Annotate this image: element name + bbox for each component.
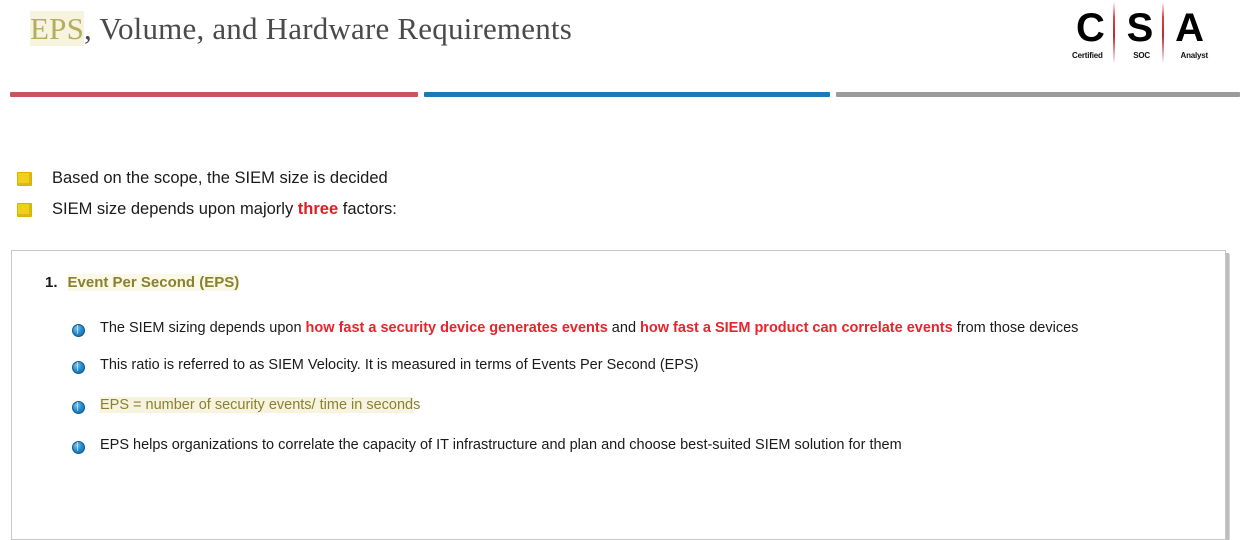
blue-globe-bullet-icon <box>72 324 85 337</box>
list-item: This ratio is referred to as SIEM Veloci… <box>72 356 1199 375</box>
top-bullet-text-after: factors: <box>338 200 397 218</box>
content-box: 1. Event Per Second (EPS) The SIEM sizin… <box>11 250 1226 540</box>
rule-bar-gray <box>836 92 1240 97</box>
sub-bullet-text: EPS = number of security events/ time in… <box>100 396 420 415</box>
item-number: 1. <box>45 274 58 291</box>
blue-globe-bullet-icon <box>72 361 85 374</box>
text-segment: This ratio is referred to as SIEM Veloci… <box>100 357 699 373</box>
top-bullet-list: Based on the scope, the SIEM size is dec… <box>0 168 700 230</box>
sub-bullet-text: This ratio is referred to as SIEM Veloci… <box>100 356 699 375</box>
numbered-item-eps: 1. Event Per Second (EPS) <box>45 274 239 291</box>
top-bullet-text-before: SIEM size depends upon majorly <box>52 200 298 218</box>
slide-header: EPS, Volume, and Hardware Requirements C… <box>0 0 1248 92</box>
list-item: SIEM size depends upon majorly three fac… <box>0 199 700 219</box>
page-title-accent: EPS <box>30 11 84 46</box>
sub-bullet-text: EPS helps organizations to correlate the… <box>100 436 902 455</box>
logo-letter-a: A <box>1175 8 1204 48</box>
text-segment: EPS helps organizations to correlate the… <box>100 437 902 453</box>
text-segment: from those devices <box>953 320 1079 336</box>
logo-divider-left-icon <box>1113 2 1115 64</box>
sub-bullet-text: The SIEM sizing depends upon how fast a … <box>100 319 1078 338</box>
page-title: EPS, Volume, and Hardware Requirements <box>30 11 572 47</box>
list-item: EPS helps organizations to correlate the… <box>72 436 1199 455</box>
yellow-square-bullet-icon <box>17 172 32 186</box>
sub-bullet-list: The SIEM sizing depends upon how fast a … <box>72 319 1199 473</box>
text-segment-highlight: how fast a SIEM product can correlate ev… <box>640 320 953 336</box>
list-item: EPS = number of security events/ time in… <box>72 396 1199 415</box>
logo-subtitle-analyst: Analyst <box>1181 51 1209 60</box>
logo-subtitle-soc: SOC <box>1133 51 1150 60</box>
list-item: Based on the scope, the SIEM size is dec… <box>0 168 700 188</box>
text-segment-highlight: EPS = number of security events/ time in… <box>100 397 413 413</box>
blue-globe-bullet-icon <box>72 441 85 454</box>
list-item: The SIEM sizing depends upon how fast a … <box>72 319 1199 338</box>
blue-globe-bullet-icon <box>72 401 85 414</box>
rule-bar-blue <box>424 92 830 97</box>
top-bullet-text: SIEM size depends upon majorly three fac… <box>52 199 397 219</box>
logo-divider-right-icon <box>1162 2 1164 64</box>
csa-logo: C S A Certified SOC Analyst <box>1070 6 1210 68</box>
top-bullet-text-before: Based on the scope, the SIEM size is dec… <box>52 169 388 187</box>
top-bullet-text: Based on the scope, the SIEM size is dec… <box>52 168 388 188</box>
header-rule-bars <box>0 92 1248 100</box>
logo-letter-s: S <box>1127 8 1154 48</box>
yellow-square-bullet-icon <box>17 203 32 217</box>
page-title-rest: , Volume, and Hardware Requirements <box>84 11 572 46</box>
text-segment: The SIEM sizing depends upon <box>100 320 306 336</box>
text-segment: and <box>608 320 640 336</box>
logo-subtitle-certified: Certified <box>1072 51 1103 60</box>
item-label: Event Per Second (EPS) <box>68 274 240 291</box>
rule-bar-red <box>10 92 418 97</box>
text-segment-highlight: how fast a security device generates eve… <box>306 320 608 336</box>
text-segment: s <box>413 397 420 413</box>
top-bullet-highlight: three <box>298 200 338 218</box>
logo-letter-c: C <box>1076 8 1105 48</box>
logo-letters: C S A <box>1070 6 1210 48</box>
